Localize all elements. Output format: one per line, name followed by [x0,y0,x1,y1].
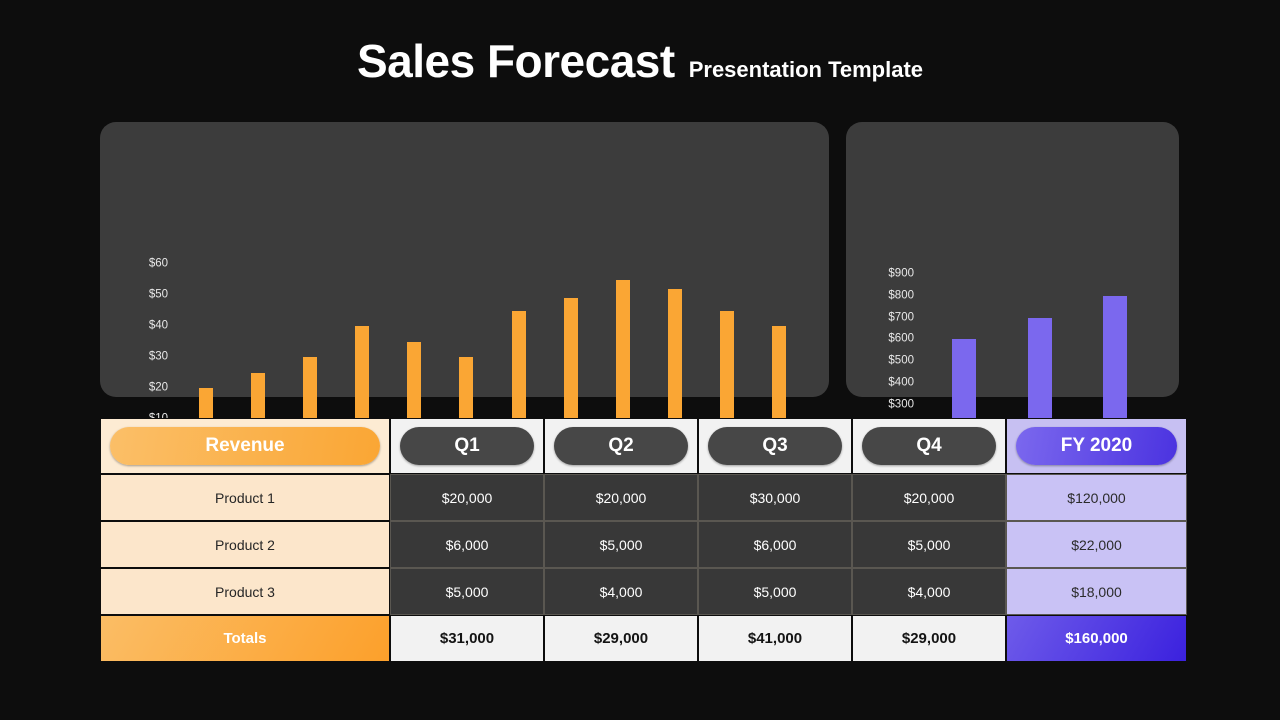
totals-cell-fy: $160,000 [1006,615,1187,662]
y-tick-label: $400 [888,377,914,389]
y-tick-label: $600 [888,334,914,346]
header-pill: Q3 [708,427,842,465]
table-cell-fy: $18,000 [1006,568,1187,615]
table-row: Product 1$20,000$20,000$30,000$20,000$12… [100,474,1179,521]
revenue-table: RevenueQ1Q2Q3Q4FY 2020 Product 1$20,000$… [100,418,1179,662]
table-header-cell-q1[interactable]: Q1 [390,418,544,474]
y-tick-label: $50 [149,289,168,301]
y-tick-label: $900 [888,268,914,280]
table-cell: $6,000 [390,521,544,568]
table-cell-fy: $120,000 [1006,474,1187,521]
table-cell: $30,000 [698,474,852,521]
row-label: Product 2 [100,521,390,568]
table-cell-fy: $22,000 [1006,521,1187,568]
table-row: Product 3$5,000$4,000$5,000$4,000$18,000 [100,568,1179,615]
slide-title-row: Sales Forecast Presentation Template [0,38,1280,84]
header-pill: Revenue [110,427,380,465]
totals-cell: $31,000 [390,615,544,662]
table-cell: $5,000 [390,568,544,615]
table-totals-row: Totals$31,000$29,000$41,000$29,000$160,0… [100,615,1179,662]
y-tick-label: $30 [149,351,168,363]
table-cell: $5,000 [852,521,1006,568]
y-tick-label: $40 [149,320,168,332]
row-label: Product 1 [100,474,390,521]
table-cell: $20,000 [390,474,544,521]
row-label: Product 3 [100,568,390,615]
totals-cell: $29,000 [852,615,1006,662]
y-tick-label: $20 [149,382,168,394]
header-pill: Q4 [862,427,996,465]
page-subtitle: Presentation Template [689,59,923,81]
table-header-cell-q3[interactable]: Q3 [698,418,852,474]
y-tick-label: $500 [888,355,914,367]
page-title: Sales Forecast [357,38,675,84]
y-tick-label: $700 [888,312,914,324]
table-cell: $20,000 [544,474,698,521]
table-header-row: RevenueQ1Q2Q3Q4FY 2020 [100,418,1179,474]
y-tick-label: $800 [888,290,914,302]
header-pill: Q1 [400,427,534,465]
table-cell: $4,000 [544,568,698,615]
y-tick-label: $300 [888,399,914,411]
table-cell: $20,000 [852,474,1006,521]
monthly-sales-chart-panel: $0$10$20$30$40$50$60 Jan-20Feb-20Mar-20A… [100,122,829,397]
totals-cell: $29,000 [544,615,698,662]
table-header-cell-q4[interactable]: Q4 [852,418,1006,474]
table-body: Product 1$20,000$20,000$30,000$20,000$12… [100,474,1179,615]
table-header-cell-q2[interactable]: Q2 [544,418,698,474]
table-cell: $6,000 [698,521,852,568]
fiscal-year-chart: $0$100$200$300$400$500$600$700$800$900 F… [846,122,1179,397]
table-header-cell-fy-2020[interactable]: FY 2020 [1006,418,1187,474]
y-tick-label: $60 [149,258,168,270]
table-cell: $5,000 [698,568,852,615]
table-header-cell-revenue[interactable]: Revenue [100,418,390,474]
monthly-sales-chart: $0$10$20$30$40$50$60 Jan-20Feb-20Mar-20A… [100,122,829,397]
table-cell: $4,000 [852,568,1006,615]
header-pill: FY 2020 [1016,427,1177,465]
header-pill: Q2 [554,427,688,465]
totals-label: Totals [100,615,390,662]
totals-cell: $41,000 [698,615,852,662]
fiscal-year-chart-panel: $0$100$200$300$400$500$600$700$800$900 F… [846,122,1179,397]
table-cell: $5,000 [544,521,698,568]
table-row: Product 2$6,000$5,000$6,000$5,000$22,000 [100,521,1179,568]
slide: Sales Forecast Presentation Template $0$… [0,0,1280,720]
